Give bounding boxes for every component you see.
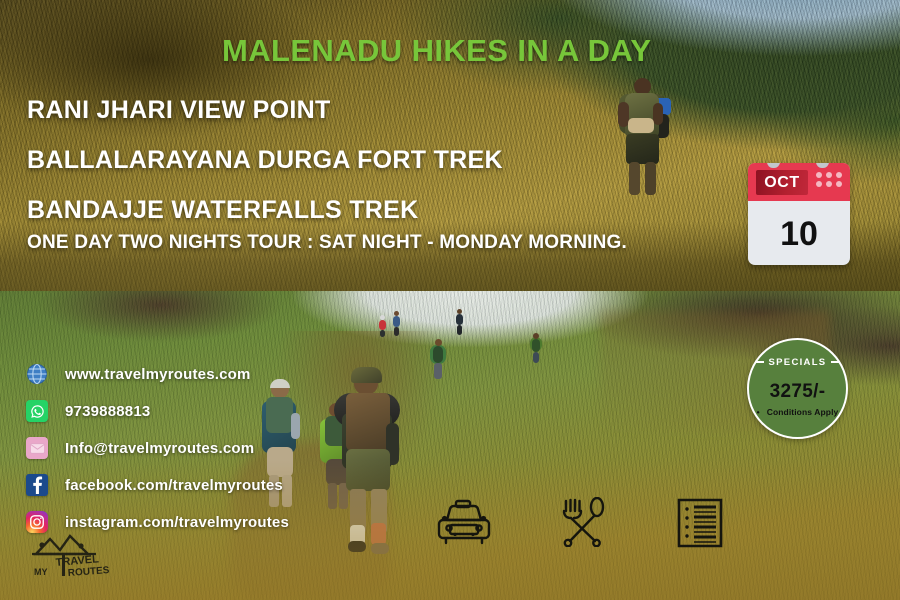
calendar-notch-icon [816,163,829,168]
brand-logo: TRAVEL MY ROUTES [26,528,110,580]
page-title: MALENADU HIKES IN A DAY [222,33,651,69]
distant-hiker [392,311,401,336]
cutlery-icon [555,497,613,549]
trek-list-item: BALLALARAYANA DURGA FORT TREK [27,146,727,175]
itinerary-icon [675,497,733,549]
facebook-icon [26,474,48,496]
contact-list: www.travelmyroutes.com 9739888813 Info@t… [26,358,289,543]
phone-text: 9739888813 [65,403,150,420]
badge-conditions-label: Conditions Apply [757,407,839,417]
price-badge: SPECIALS 3275/- Conditions Apply [747,338,848,439]
travel-poster: MALENADU HIKES IN A DAY RANI JHARI VIEW … [0,0,900,600]
taxi-icon [435,497,493,549]
globe-icon [26,363,48,385]
whatsapp-icon [26,400,48,422]
calendar-day-label: 10 [748,203,850,265]
trek-list-item: BANDAJJE WATERFALLS TREK [27,196,727,225]
mid-hiker [530,333,542,363]
calendar-date-widget: OCT 10 [748,163,850,265]
badge-specials-label: SPECIALS [755,357,841,368]
website-text: www.travelmyroutes.com [65,366,251,383]
contact-row-facebook[interactable]: facebook.com/travelmyroutes [26,469,289,501]
contact-row-email[interactable]: Info@travelmyroutes.com [26,432,289,464]
trek-list-item: RANI JHARI VIEW POINT [27,96,727,125]
trek-list: RANI JHARI VIEW POINT BALLALARAYANA DURG… [27,96,727,246]
svg-text:MY: MY [34,567,48,577]
amenities-row [435,497,733,549]
email-text: Info@travelmyroutes.com [65,440,254,457]
svg-text:ROUTES: ROUTES [67,565,110,579]
calendar-notch-icon [767,163,780,168]
distant-hiker [455,309,464,335]
calendar-month-box: OCT [756,170,808,195]
calendar-dots-icon [816,172,843,187]
tour-schedule-text: ONE DAY TWO NIGHTS TOUR : SAT NIGHT - MO… [27,232,627,254]
distant-hiker [378,315,387,337]
contact-row-website[interactable]: www.travelmyroutes.com [26,358,289,390]
calendar-header: OCT [748,163,850,201]
mid-hiker [430,339,446,379]
calendar-month-label: OCT [764,175,800,191]
facebook-text: facebook.com/travelmyroutes [65,477,283,494]
contact-row-whatsapp[interactable]: 9739888813 [26,395,289,427]
email-icon [26,437,48,459]
badge-price-value: 3275/- [770,381,826,403]
